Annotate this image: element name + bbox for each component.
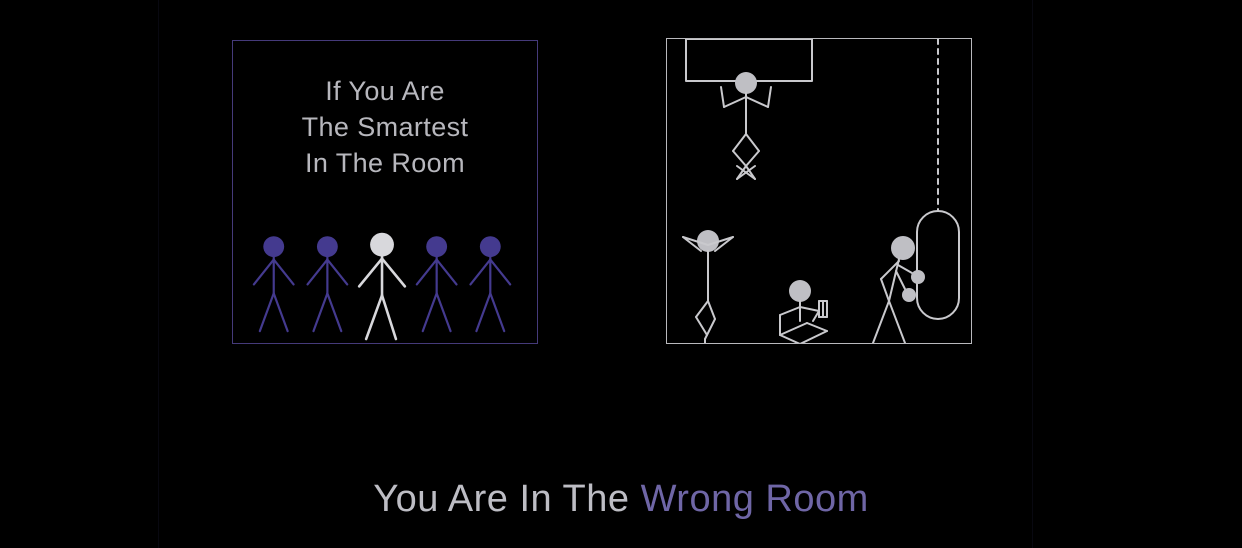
crowd-illustration	[233, 41, 537, 343]
crowd-group	[254, 233, 510, 339]
wrong-room-illustration	[667, 39, 971, 343]
wrong-room-panel	[666, 38, 972, 344]
ordinary-figure-4	[417, 236, 457, 331]
tagline-plain-text: You Are In The	[373, 478, 640, 520]
punching-bag	[917, 211, 959, 319]
stretching-figure	[683, 230, 733, 343]
ordinary-figure-5	[470, 236, 510, 331]
tagline: You Are In The Wrong Room	[0, 476, 1242, 522]
tagline-highlight-text: Wrong Room	[641, 478, 869, 520]
smartest-in-the-room-panel: If You Are The Smartest In The Room	[232, 40, 538, 344]
slide-canvas: If You Are The Smartest In The Room	[0, 0, 1242, 548]
highlighted-figure	[359, 233, 405, 339]
content-column-right-edge	[1032, 0, 1033, 548]
ordinary-figure-2	[308, 236, 348, 331]
seated-laptop-figure	[780, 280, 827, 343]
ordinary-figure-1	[254, 236, 294, 331]
presenting-figure	[721, 72, 771, 179]
content-column-left-edge	[158, 0, 159, 548]
